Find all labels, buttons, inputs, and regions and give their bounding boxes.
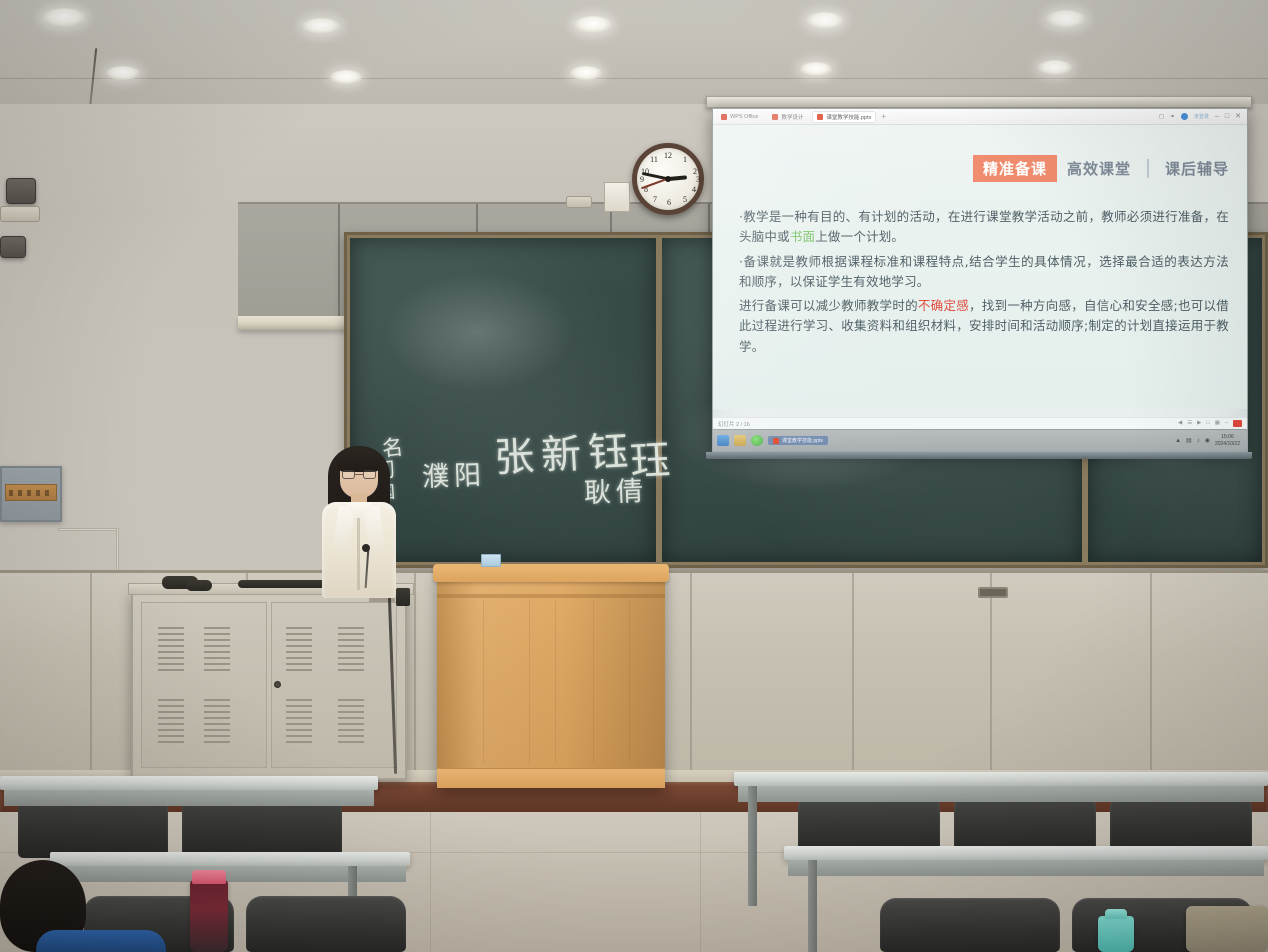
presenter-fringe bbox=[337, 448, 381, 472]
wooden-lectern bbox=[437, 570, 665, 788]
taskbar-task-label: 课堂教学技能.pptx bbox=[782, 437, 823, 444]
chalk-place: 濮阳 bbox=[421, 453, 486, 494]
bottle-cap bbox=[192, 870, 226, 884]
powerpoint-icon bbox=[817, 114, 823, 120]
ceiling-downlight bbox=[570, 66, 602, 80]
classroom-scene: 12 1 2 3 4 5 6 7 8 9 10 11 名 初 国 濮阳 张新钰 … bbox=[0, 0, 1268, 952]
slide-paragraph-3: 进行备课可以减少教师教学时的不确定感，找到一种方向感，自信心和安全感;也可以借此… bbox=[739, 296, 1229, 357]
slide-paragraph-1: ·教学是一种有目的、有计划的活动，在进行课堂教学活动之前，教师必须进行准备，在头… bbox=[739, 207, 1229, 248]
cabinet-door-right[interactable] bbox=[271, 602, 397, 768]
system-tray: ▲ ▤ ♪ ◉ 15:06 2024/10/22 bbox=[1175, 434, 1243, 447]
wps-ppt-tab-label: 课堂教学技能.pptx bbox=[826, 113, 871, 121]
new-tab-button[interactable]: + bbox=[881, 113, 886, 121]
projection-screen: WPS Office 教学设计 课堂教学技能.pptx + ◻ ⚭ 未登录 – … bbox=[712, 108, 1248, 452]
ceiling-downlight bbox=[42, 8, 86, 27]
slide-nav-item-3[interactable]: 课后辅导 bbox=[1155, 155, 1239, 182]
presenter bbox=[306, 440, 412, 600]
clock-center-pin bbox=[665, 176, 671, 182]
bottle-cap bbox=[1105, 909, 1127, 919]
nav-divider bbox=[1147, 159, 1149, 178]
record-icon[interactable] bbox=[1233, 420, 1242, 427]
lectern-base bbox=[437, 768, 665, 788]
student-chair bbox=[880, 898, 1060, 952]
ppt-status-bar: 幻灯片 2 / 16 ◀ ☰ ▶ □ ▦ – bbox=[713, 417, 1247, 429]
powerpoint-icon bbox=[773, 438, 779, 444]
ceiling-downlight bbox=[330, 70, 362, 84]
taskbar-clock[interactable]: 15:06 2024/10/22 bbox=[1215, 434, 1240, 447]
volume-icon[interactable]: ♪ bbox=[1197, 438, 1200, 444]
para3-highlight-red: 不确定感 bbox=[918, 298, 969, 313]
ceiling-downlight bbox=[800, 62, 832, 76]
zoom-out-button[interactable]: – bbox=[1225, 421, 1228, 427]
taskbar-clock-date: 2024/10/22 bbox=[1215, 441, 1240, 447]
lectern-top bbox=[433, 564, 669, 582]
wps-logo-icon bbox=[721, 114, 727, 120]
ceiling-downlight bbox=[574, 16, 612, 33]
maximize-button[interactable]: □ bbox=[1225, 113, 1229, 120]
projection-screen-housing bbox=[706, 96, 1252, 108]
presenter-placket bbox=[357, 518, 360, 590]
network-icon[interactable]: ▤ bbox=[1186, 438, 1192, 444]
student-body bbox=[36, 930, 166, 952]
wps-ppt-tab[interactable]: 课堂教学技能.pptx bbox=[813, 112, 875, 122]
ime-icon[interactable]: ◉ bbox=[1205, 438, 1210, 444]
wps-doc-tab[interactable]: 教学设计 bbox=[768, 112, 807, 122]
electrical-panel bbox=[0, 466, 62, 522]
student-chair bbox=[246, 896, 406, 952]
wps-titlebar: WPS Office 教学设计 课堂教学技能.pptx + ◻ ⚭ 未登录 – … bbox=[713, 109, 1247, 125]
cabinet-top-items bbox=[186, 580, 212, 591]
cloud-sync-icon[interactable]: ◻ bbox=[1159, 114, 1164, 120]
slide-page-indicator: 幻灯片 2 / 16 bbox=[718, 420, 750, 428]
ceiling-downlight bbox=[1046, 10, 1086, 28]
para3-seg1: 进行备课可以减少教师教学时的 bbox=[739, 298, 918, 313]
browser-icon[interactable] bbox=[717, 435, 729, 446]
minimize-button[interactable]: – bbox=[1215, 113, 1219, 120]
ceiling-downlight bbox=[1038, 60, 1072, 75]
lectern-rail bbox=[437, 594, 665, 598]
user-label[interactable]: 未登录 bbox=[1194, 113, 1209, 120]
ceiling bbox=[0, 0, 1268, 108]
taskbar-active-task[interactable]: 课堂教学技能.pptx bbox=[768, 436, 828, 445]
slide-paragraph-2: ·备课就是教师根据课程标准和课程特点,结合学生的具体情况，选择最合适的表达方法和… bbox=[739, 252, 1229, 293]
wainscot-vent bbox=[978, 587, 1008, 598]
motion-sensor bbox=[566, 196, 592, 208]
chevron-up-icon[interactable]: ▲ bbox=[1175, 438, 1181, 444]
chalk-name-sub: 耿倩 bbox=[583, 469, 648, 510]
cabinet-lock[interactable] bbox=[274, 681, 281, 688]
slide-section-nav: 精准备课 高效课堂 课后辅导 bbox=[973, 155, 1239, 182]
wps-home-tab[interactable]: WPS Office bbox=[717, 113, 762, 121]
document-icon bbox=[772, 114, 778, 120]
next-slide-button[interactable]: ▶ bbox=[1197, 421, 1201, 427]
windows-taskbar: 课堂教学技能.pptx ▲ ▤ ♪ ◉ 15:06 2024/10/22 bbox=[713, 429, 1247, 451]
para1-seg3: 上做一个计划。 bbox=[815, 229, 904, 244]
microphone-head bbox=[362, 544, 370, 552]
close-button[interactable]: ✕ bbox=[1235, 113, 1241, 120]
wps-home-tab-label: WPS Office bbox=[730, 114, 758, 120]
student-bag bbox=[1186, 906, 1268, 952]
wall-notice-card bbox=[604, 182, 630, 212]
presenter-glasses bbox=[342, 470, 376, 479]
water-bottle-teal bbox=[1098, 916, 1134, 952]
wall-sensor bbox=[0, 206, 40, 222]
slide-menu-button[interactable]: ☰ bbox=[1187, 421, 1192, 427]
wall-speaker bbox=[0, 236, 26, 258]
equipment-cabinet[interactable] bbox=[131, 590, 407, 780]
slide-body: ·教学是一种有目的、有计划的活动，在进行课堂教学活动之前，教师必须进行准备，在头… bbox=[739, 207, 1229, 357]
user-avatar-icon[interactable] bbox=[1181, 113, 1188, 120]
ceiling-downlight bbox=[806, 12, 844, 29]
normal-view-button[interactable]: □ bbox=[1206, 421, 1209, 427]
wall-conduit bbox=[58, 528, 118, 531]
ceiling-downlight bbox=[106, 66, 140, 80]
slide-canvas: 精准备课 高效课堂 课后辅导 ·教学是一种有目的、有计划的活动，在进行课堂教学活… bbox=[713, 125, 1247, 409]
lectern-note-card bbox=[481, 554, 501, 567]
share-icon[interactable]: ⚭ bbox=[1170, 114, 1175, 120]
panel-plate bbox=[5, 484, 57, 501]
wechat-icon[interactable] bbox=[751, 435, 763, 446]
ceiling-wire bbox=[89, 48, 97, 110]
file-explorer-icon[interactable] bbox=[734, 435, 746, 446]
wps-doc-tab-label: 教学设计 bbox=[781, 113, 803, 121]
prev-slide-button[interactable]: ◀ bbox=[1178, 421, 1182, 427]
sorter-view-button[interactable]: ▦ bbox=[1215, 421, 1220, 427]
wall-clock: 12 1 2 3 4 5 6 7 8 9 10 11 bbox=[632, 143, 704, 215]
ceiling-downlight bbox=[302, 18, 340, 34]
para2-seg1: ·备课就是教师根据课程标准和课程特点,结合学生的具体情况，选择最合适的表达方法和… bbox=[739, 254, 1229, 289]
water-bottle-pink bbox=[190, 880, 228, 952]
projection-screen-bottom-bar bbox=[706, 452, 1252, 459]
wall-speaker bbox=[6, 178, 36, 204]
cabinet-door-left[interactable] bbox=[141, 602, 267, 768]
slide-nav-item-active[interactable]: 精准备课 bbox=[973, 155, 1057, 182]
slide-nav-item-2[interactable]: 高效课堂 bbox=[1057, 155, 1141, 182]
para1-highlight-green: 书面 bbox=[790, 229, 815, 244]
